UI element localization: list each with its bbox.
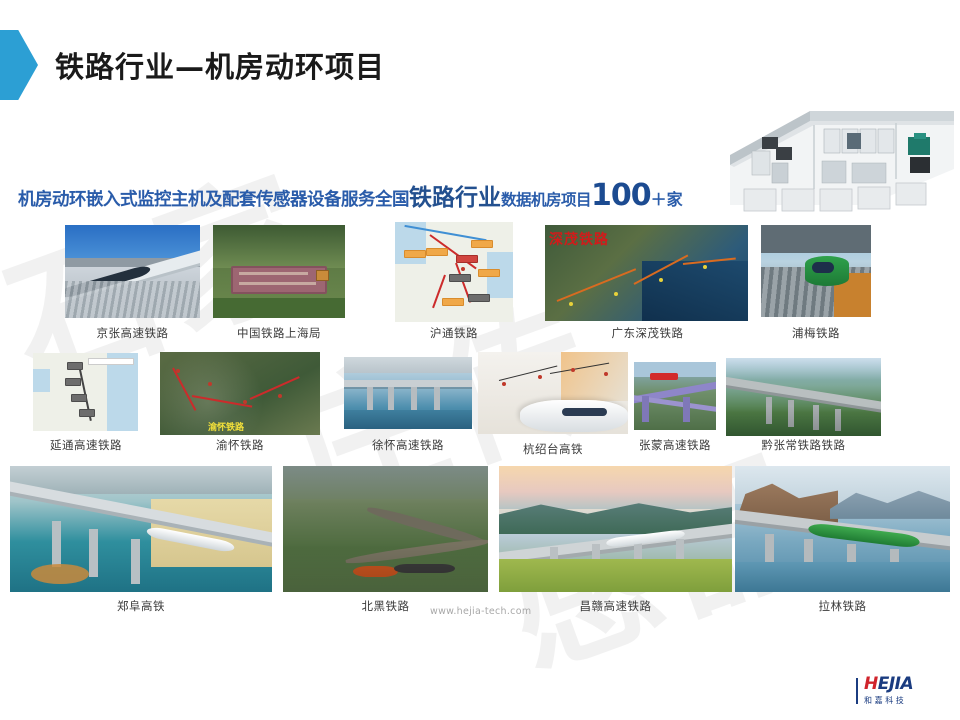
logo-subtitle: 和嘉科技 [864,695,913,706]
banner-highlight: 铁路行业 [409,178,501,212]
machine-room-3d-image [718,103,956,215]
banner-headline: 机房动环嵌入式监控主机及配套传感器设备服务全国 铁路行业 数据机房项目 100 … [18,178,683,213]
gallery-photo[interactable] [499,466,732,592]
gallery-photo[interactable] [478,352,628,434]
banner-plus: ＋ [651,186,667,210]
gallery-caption: 张蒙高速铁路 [622,437,728,453]
logo-wordmark-accent: H [864,674,878,694]
banner-unit: 家 [667,186,683,210]
banner-part2: 数据机房项目 [501,188,591,210]
gallery-photo[interactable] [213,225,345,318]
gallery-caption: 广东深茂铁路 [560,325,735,341]
gallery-photo[interactable] [283,466,488,592]
logo-wordmark-rest: EJIA [878,674,913,694]
gallery-photo[interactable] [344,357,472,429]
slide-canvas: 石家 庄传 感器 铁路行业—机房动环项目 机房动环嵌入式监控主机及配套传感器设备… [0,0,960,720]
logo-divider [856,678,858,704]
gallery-caption: 京张高速铁路 [65,325,200,341]
logo-wordmark: HEJIA [864,676,913,693]
gallery-caption: 杭绍台高铁 [478,441,628,457]
gallery-caption: 昌赣高速铁路 [499,598,732,614]
gallery-caption: 拉林铁路 [735,598,950,614]
gallery-caption: 徐怀高速铁路 [344,437,472,453]
gallery-caption: 黔张常铁路铁路 [726,437,881,453]
gallery-photo[interactable] [735,466,950,592]
banner-number: 100 [591,178,651,213]
gallery-photo[interactable] [634,362,716,430]
gallery-photo[interactable] [395,222,513,322]
gallery-photo[interactable] [761,225,871,317]
title-arrow-icon [0,30,38,100]
gallery-caption: 渝怀铁路 [166,437,314,453]
gallery-photo[interactable] [10,466,272,592]
page-title: 铁路行业—机房动环项目 [55,44,385,86]
gallery-caption: 延通高速铁路 [28,437,144,453]
photo-overlay-label: 深茂铁路 [549,229,609,249]
gallery-photo[interactable]: 深茂铁路 [545,225,748,321]
gallery-caption: 郑阜高铁 [10,598,272,614]
gallery-photo[interactable] [65,225,200,318]
gallery-caption: 浦梅铁路 [761,325,871,341]
gallery-caption: 沪通铁路 [389,325,519,341]
gallery-photo[interactable]: 渝怀铁路 [160,352,320,435]
gallery-photo[interactable] [726,358,881,436]
company-logo: HEJIA 和嘉科技 [856,676,913,706]
website-url: www.hejia-tech.com [430,606,531,617]
gallery-photo[interactable] [33,353,138,431]
gallery-caption: 中国铁路上海局 [213,325,345,341]
banner-part1: 机房动环嵌入式监控主机及配套传感器设备服务全国 [18,186,409,211]
